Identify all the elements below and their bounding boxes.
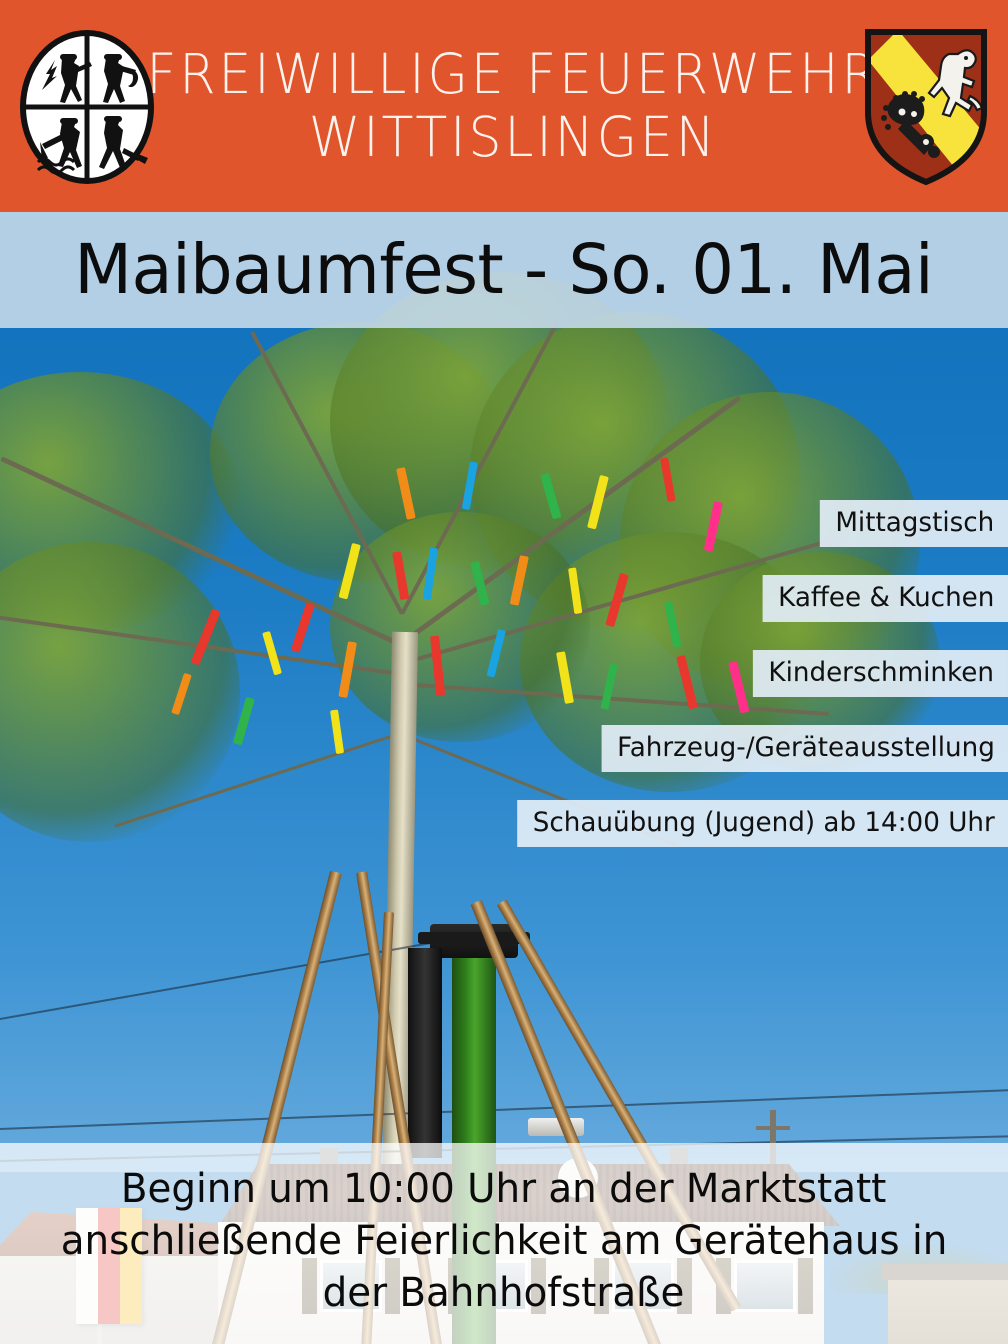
program-item-mittagstisch: Mittagstisch — [820, 500, 1008, 547]
event-title-band: Maibaumfest - So. 01. Mai — [0, 212, 1008, 328]
program-item-kaffee-kuchen: Kaffee & Kuchen — [763, 575, 1008, 622]
footer-line-3: der Bahnhofstraße — [323, 1267, 685, 1319]
program-item-schauuebung: Schauübung (Jugend) ab 14:00 Uhr — [517, 800, 1008, 847]
footer-info-band: Beginn um 10:00 Uhr an der Marktstatt an… — [0, 1143, 1008, 1344]
coat-of-arms-icon — [862, 26, 990, 188]
org-name-line1: FREIWILLIGE FEUERWEHR — [146, 43, 880, 106]
footer-line-2: anschließende Feierlichkeit am Gerätehau… — [61, 1215, 948, 1267]
program-item-kinderschminken: Kinderschminken — [753, 650, 1008, 697]
program-item-ausstellung: Fahrzeug-/Geräteausstellung — [601, 725, 1008, 772]
crane-mount — [408, 948, 442, 1158]
crane-head — [430, 924, 518, 958]
program-list: Mittagstisch Kaffee & Kuchen Kinderschmi… — [0, 500, 1008, 875]
page-title: Maibaumfest - So. 01. Mai — [75, 230, 934, 310]
fire-brigade-emblem-icon — [18, 28, 156, 186]
header-titles: FREIWILLIGE FEUERWEHR WITTISLINGEN — [168, 30, 858, 182]
poster-root: FREIWILLIGE FEUERWEHR WITTISLINGEN — [0, 0, 1008, 1344]
footer-line-1: Beginn um 10:00 Uhr an der Marktstatt — [121, 1163, 887, 1215]
header-bar: FREIWILLIGE FEUERWEHR WITTISLINGEN — [0, 0, 1008, 212]
org-name-line2: WITTISLINGEN — [309, 106, 718, 169]
